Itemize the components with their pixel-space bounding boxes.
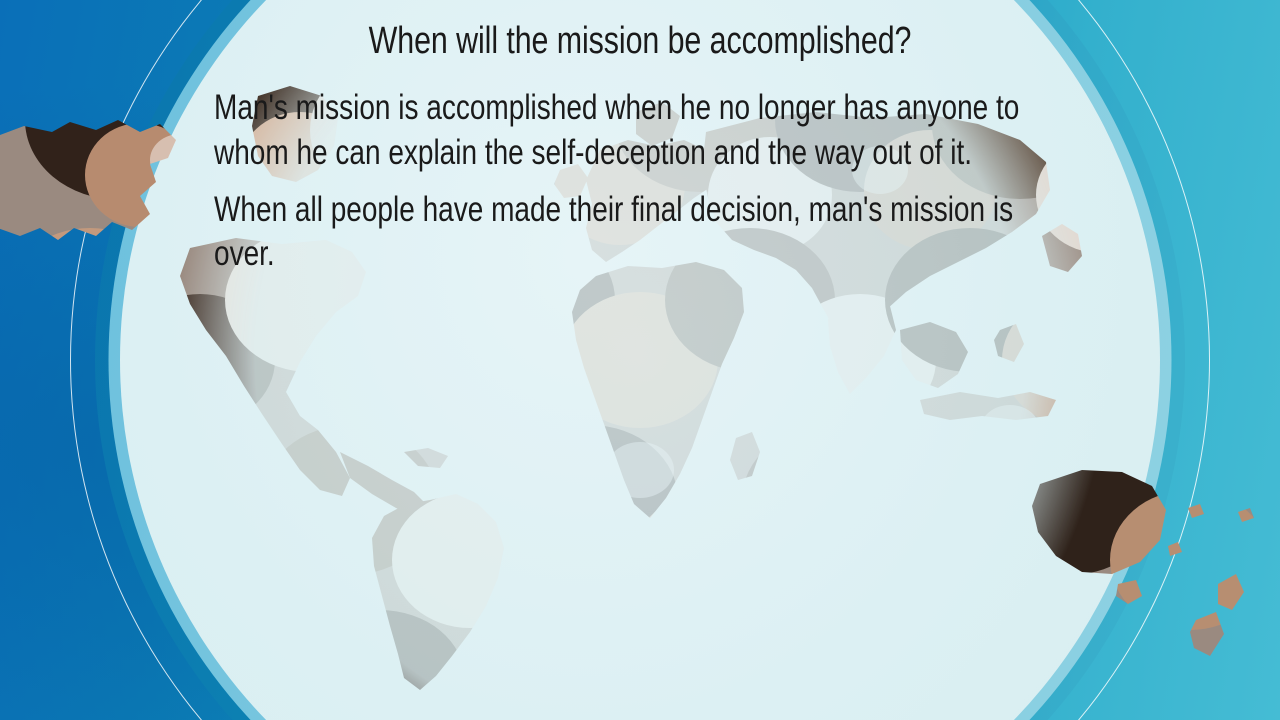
body-text-block: Man's mission is accomplished when he no… — [214, 86, 1254, 277]
presentation-slide: When will the mission be accomplished? M… — [0, 0, 1280, 720]
body-paragraph-2: When all people have made their final de… — [214, 188, 1038, 278]
body-paragraph-1: Man's mission is accomplished when he no… — [214, 86, 1038, 176]
slide-content: When will the mission be accomplished? M… — [0, 0, 1280, 720]
page-title: When will the mission be accomplished? — [299, 21, 981, 62]
